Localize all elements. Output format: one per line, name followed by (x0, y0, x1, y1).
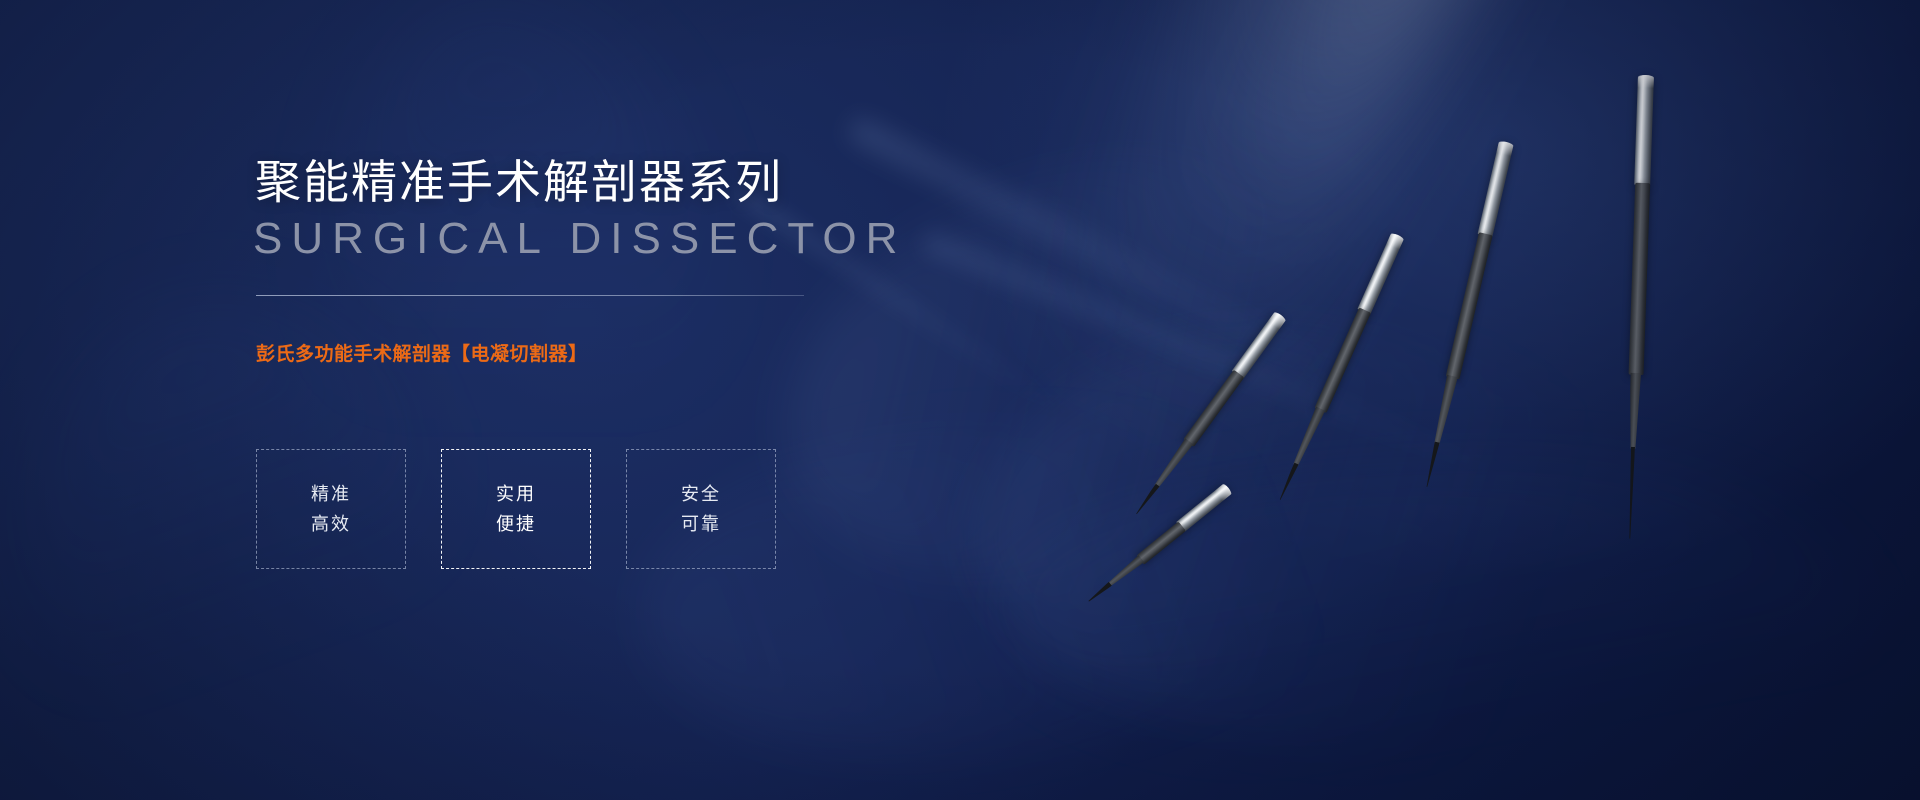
vignette-overlay (0, 0, 1920, 800)
surgical-instrument-group (0, 0, 1920, 800)
ghost-hand-upper (745, 110, 1435, 630)
instrument-shaft-4 (1445, 232, 1492, 379)
ghost-hand-mid (627, 388, 1413, 783)
hero-banner: 聚能精准手术解剖器系列 SURGICAL DISSECTOR 彭氏多功能手术解剖… (0, 0, 1920, 800)
ghost-surgical-drape (1000, 470, 1900, 800)
surgical-instrument-2 (1232, 311, 1287, 379)
feature-badge-safety-line2: 可靠 (681, 515, 721, 533)
instrument-handle-4 (1478, 140, 1514, 237)
ghost-instrument-b (920, 231, 1521, 489)
feature-badge-list: 精准 高效 实用 便捷 安全 可靠 (256, 449, 776, 569)
surgical-instrument-5 (1634, 75, 1654, 185)
instrument-shaft-5 (1628, 183, 1650, 375)
feature-badge-precision: 精准 高效 (256, 449, 406, 569)
feature-badge-safety-line1: 安全 (681, 485, 721, 503)
instrument-taper-3 (1291, 407, 1325, 468)
instrument-handle-3 (1357, 232, 1404, 314)
background-scene (0, 0, 1920, 800)
light-beam-secondary (1123, 0, 1577, 383)
page-title: 聚能精准手术解剖器系列 (255, 146, 783, 212)
instrument-tip-3 (1278, 462, 1299, 501)
ghost-instrument-a (845, 114, 1356, 391)
feature-badge-practical-line2: 便捷 (496, 515, 536, 533)
page-subtitle-english: SURGICAL DISSECTOR (253, 214, 906, 264)
instrument-tip-2 (1134, 483, 1159, 515)
instrument-taper-4 (1431, 375, 1457, 446)
title-divider (256, 295, 804, 296)
light-beam-primary (972, 0, 1538, 569)
instrument-tip-4 (1424, 442, 1439, 488)
instrument-taper-2 (1152, 438, 1193, 489)
feature-badge-practical: 实用 便捷 (441, 449, 591, 569)
instrument-taper-5 (1627, 373, 1641, 449)
feature-badge-safety: 安全 可靠 (626, 449, 776, 569)
instrument-handle-2 (1232, 311, 1287, 379)
ghost-hand-lower (954, 283, 1706, 796)
feature-badge-practical-line1: 实用 (496, 485, 536, 503)
product-name-label: 彭氏多功能手术解剖器【电凝切割器】 (256, 339, 588, 366)
surgical-instrument-4 (1478, 140, 1514, 237)
instrument-tip-5 (1628, 447, 1635, 539)
instrument-shaft-1 (1136, 521, 1186, 564)
instrument-shaft-3 (1314, 307, 1371, 413)
instrument-tip-1 (1087, 582, 1112, 604)
instrument-taper-1 (1106, 555, 1144, 588)
feature-badge-precision-line1: 精准 (311, 485, 351, 503)
feature-badge-precision-line2: 高效 (311, 515, 351, 533)
instrument-handle-5 (1634, 75, 1654, 185)
surgical-instrument-1 (1176, 483, 1232, 532)
instrument-shaft-2 (1183, 369, 1244, 446)
instrument-handle-1 (1176, 483, 1232, 532)
surgical-instrument-3 (1357, 232, 1404, 314)
